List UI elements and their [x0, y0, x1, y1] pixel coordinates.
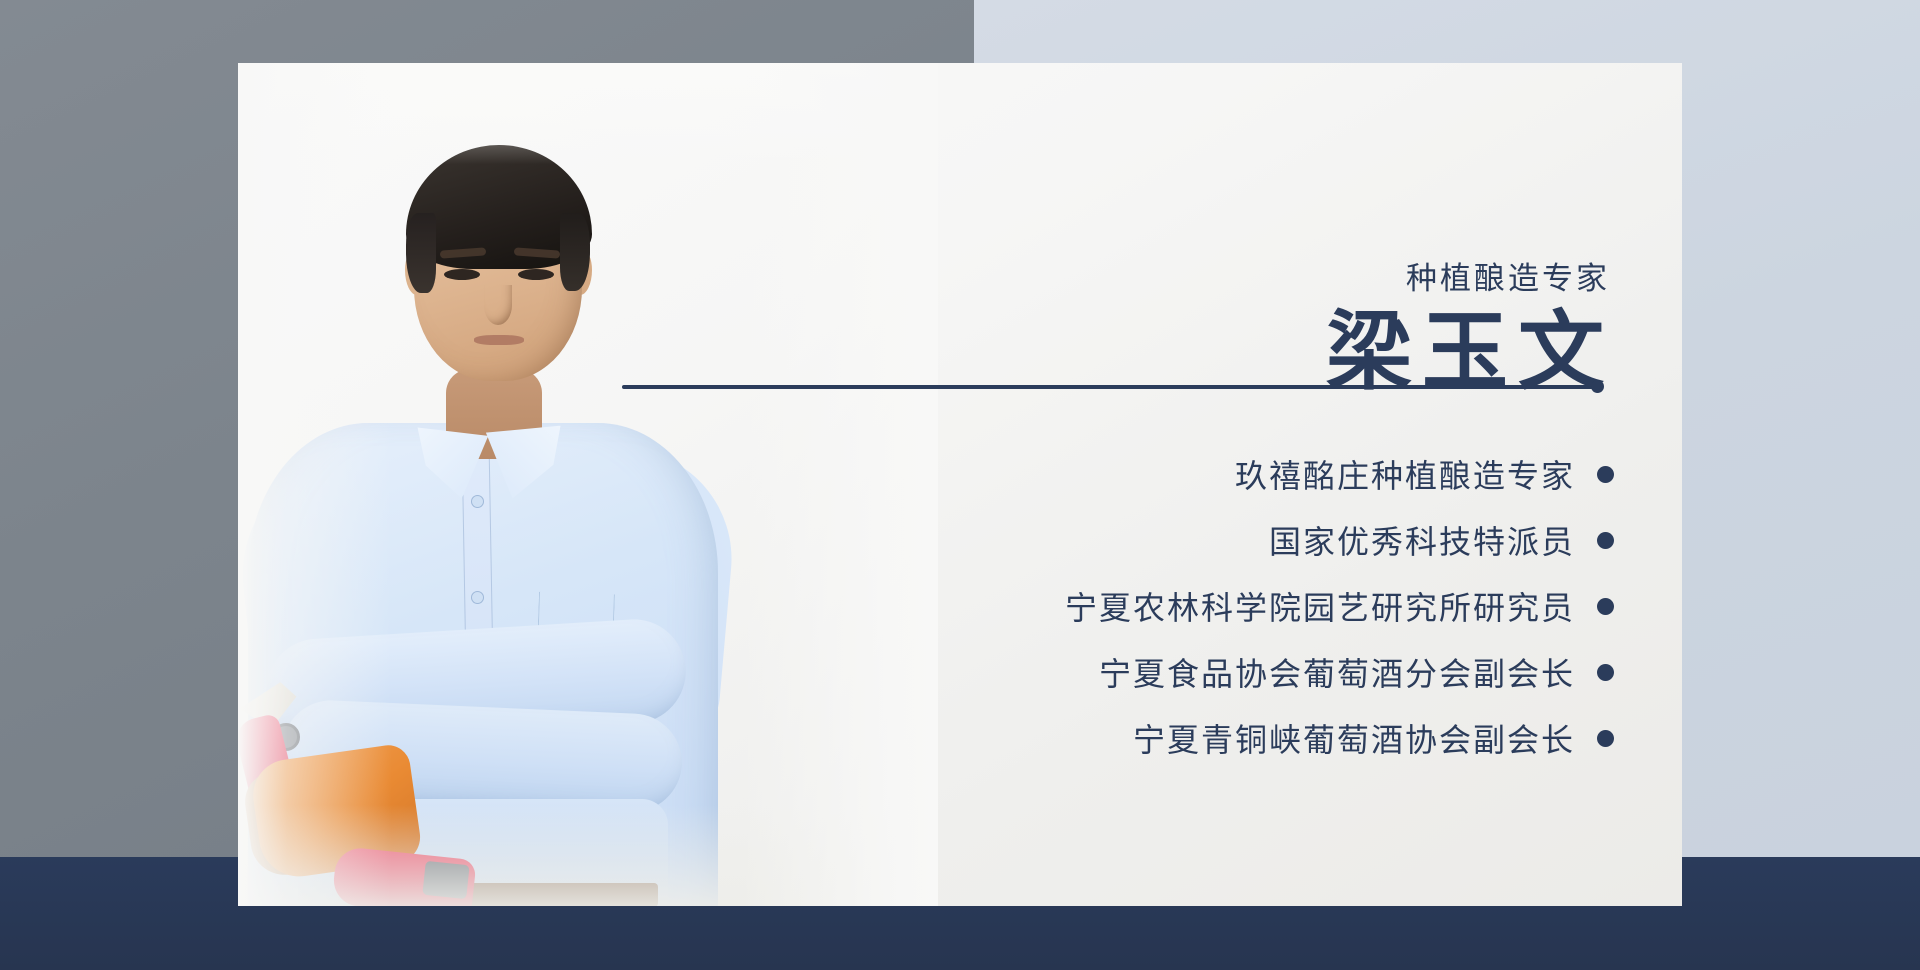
- list-item: 宁夏食品协会葡萄酒分会副会长: [794, 649, 1614, 695]
- credential-text: 宁夏食品协会葡萄酒分会副会长: [1099, 649, 1575, 695]
- mouth: [474, 335, 524, 345]
- profile-card: 种植酿造专家 梁玉文 玖禧酩庄种植酿造专家 国家优秀科技特派员 宁夏农林科学院园…: [238, 63, 1682, 906]
- list-item: 宁夏青铜峡葡萄酒协会副会长: [794, 715, 1614, 761]
- divider-end-dot: [1591, 380, 1604, 393]
- shirt-button: [471, 591, 484, 604]
- nose: [484, 285, 512, 325]
- bullet-dot-icon: [1597, 730, 1614, 747]
- divider-line: [622, 385, 1599, 389]
- hair-side-right: [560, 213, 590, 291]
- hair-side-left: [406, 213, 436, 293]
- bullet-dot-icon: [1597, 664, 1614, 681]
- banner-stage: 种植酿造专家 梁玉文 玖禧酩庄种植酿造专家 国家优秀科技特派员 宁夏农林科学院园…: [0, 0, 1920, 970]
- shirt-button: [471, 495, 484, 508]
- credential-text: 玖禧酩庄种植酿造专家: [1235, 451, 1575, 497]
- belt: [468, 883, 658, 906]
- profile-subtitle: 种植酿造专家: [1406, 253, 1610, 298]
- list-item: 宁夏农林科学院园艺研究所研究员: [794, 583, 1614, 629]
- bullet-dot-icon: [1597, 466, 1614, 483]
- pruning-shear-grip: [422, 861, 469, 899]
- credential-text: 宁夏农林科学院园艺研究所研究员: [1065, 583, 1575, 629]
- credential-list: 玖禧酩庄种植酿造专家 国家优秀科技特派员 宁夏农林科学院园艺研究所研究员 宁夏食…: [794, 451, 1614, 761]
- credential-text: 宁夏青铜峡葡萄酒协会副会长: [1133, 715, 1575, 761]
- list-item: 国家优秀科技特派员: [794, 517, 1614, 563]
- eye-right: [518, 269, 554, 280]
- bullet-dot-icon: [1597, 532, 1614, 549]
- bullet-dot-icon: [1597, 598, 1614, 615]
- profile-name: 梁玉文: [1326, 307, 1614, 397]
- credential-text: 国家优秀科技特派员: [1269, 517, 1575, 563]
- eye-left: [444, 269, 480, 280]
- list-item: 玖禧酩庄种植酿造专家: [794, 451, 1614, 497]
